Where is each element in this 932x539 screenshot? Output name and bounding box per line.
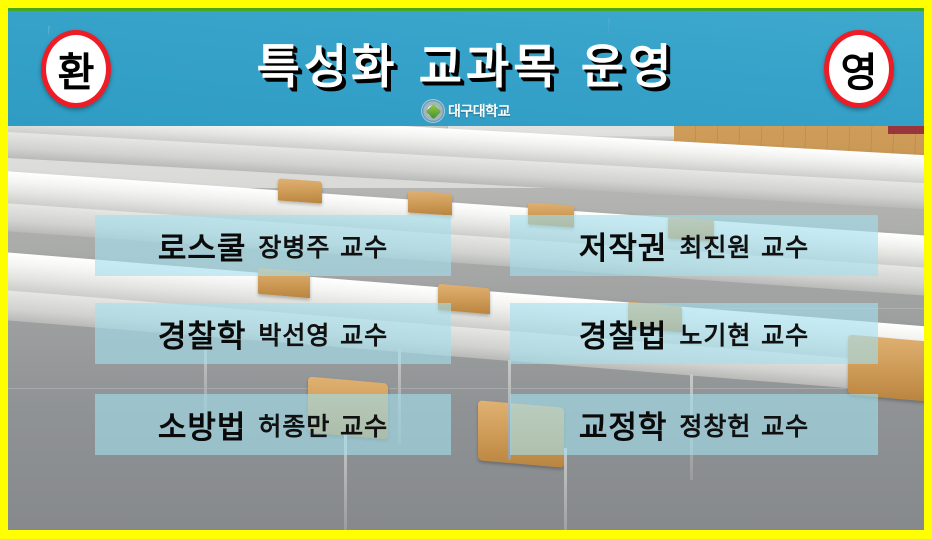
course-card-sobangbeop[interactable]: 소방법 허종만 교수 <box>95 394 451 455</box>
course-subject: 경찰학 <box>158 311 247 356</box>
emblem-gem-shape <box>425 103 441 119</box>
badge-left-hwan: 환 <box>41 30 111 108</box>
course-subject: 교정학 <box>579 402 668 447</box>
course-instructor: 최진원 교수 <box>679 228 809 264</box>
poster-canvas: 특성화 교과목 운영 환 영 대구대학교 로스쿨 장병주 교수 저작권 최진원 … <box>8 8 924 530</box>
course-instructor: 허종만 교수 <box>258 407 388 443</box>
course-instructor: 박선영 교수 <box>258 316 388 352</box>
course-subject: 로스쿨 <box>158 223 247 268</box>
course-card-gyojeonghak[interactable]: 교정학 정창헌 교수 <box>510 394 878 455</box>
course-instructor: 정창헌 교수 <box>679 407 809 443</box>
page-title: 특성화 교과목 운영 <box>8 28 924 97</box>
course-card-gyeongchalbeop[interactable]: 경찰법 노기현 교수 <box>510 303 878 364</box>
course-card-jeojakgwon[interactable]: 저작권 최진원 교수 <box>510 215 878 276</box>
course-card-gyeongchalhak[interactable]: 경찰학 박선영 교수 <box>95 303 451 364</box>
badge-right-yeong: 영 <box>824 30 894 108</box>
header-green-accent-line <box>8 8 924 11</box>
course-instructor: 노기현 교수 <box>679 316 809 352</box>
course-instructor: 장병주 교수 <box>258 228 388 264</box>
course-subject: 경찰법 <box>579 311 668 356</box>
university-logo: 대구대학교 <box>422 100 510 122</box>
daegu-university-emblem-icon <box>422 100 444 122</box>
course-subject: 저작권 <box>579 223 668 268</box>
course-card-roseukul[interactable]: 로스쿨 장병주 교수 <box>95 215 451 276</box>
university-name: 대구대학교 <box>448 101 510 121</box>
course-list: 로스쿨 장병주 교수 저작권 최진원 교수 경찰학 박선영 교수 경찰법 노기현… <box>8 126 924 530</box>
course-subject: 소방법 <box>158 402 247 447</box>
poster-frame: 특성화 교과목 운영 환 영 대구대학교 로스쿨 장병주 교수 저작권 최진원 … <box>0 0 932 539</box>
